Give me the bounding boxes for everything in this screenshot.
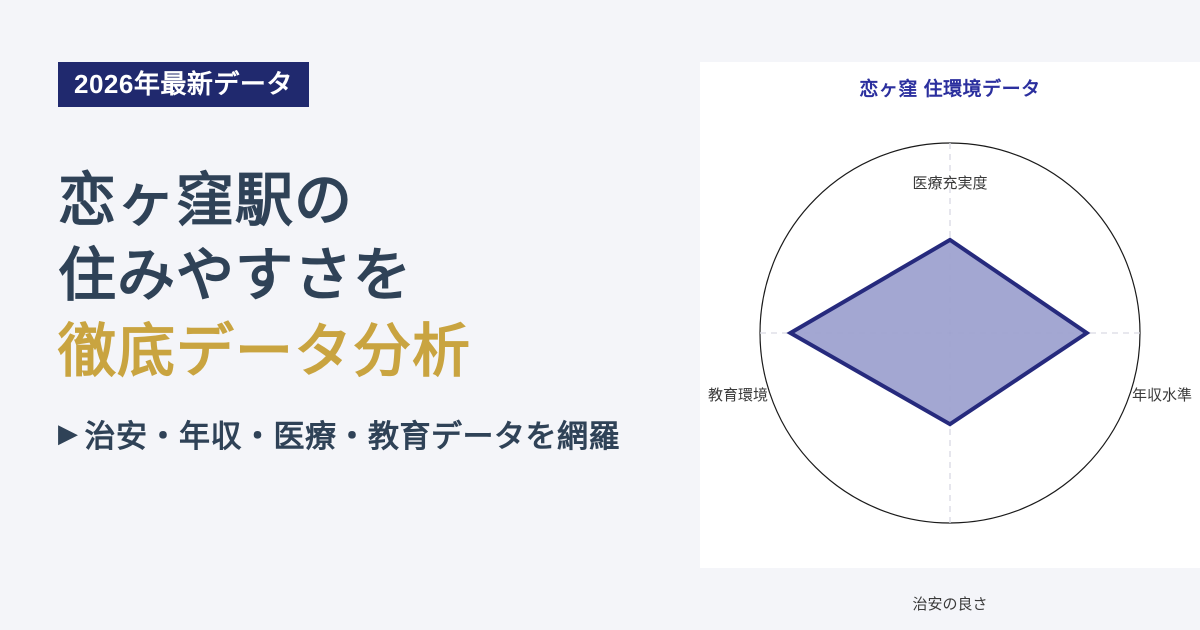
axis-label-education: 教育環境 [708,384,768,405]
headline-line-3-accent: 徹底データ分析 [58,314,700,389]
subtitle: ▶ 治安・年収・医療・教育データを網羅 [58,411,700,456]
radar-chart-svg [700,62,1200,568]
axis-label-medical: 医療充実度 [700,172,1200,193]
axis-label-income: 年収水準 [1132,384,1192,405]
subtitle-text: 治安・年収・医療・教育データを網羅 [85,411,621,456]
page-title: 恋ヶ窪駅の 住みやすさを 徹底データ分析 [58,163,700,389]
radar-chart-card: 恋ヶ窪 住環境データ 医療充実度 年収水準 治安の良さ 教育環境 [700,62,1200,568]
date-badge: 2026年最新データ [58,62,309,107]
radar-series-polygon [790,240,1086,424]
headline-line-2: 住みやすさを [58,238,700,313]
axis-label-safety: 治安の良さ [700,593,1200,614]
triangle-right-icon: ▶ [58,420,79,446]
headline-line-1: 恋ヶ窪駅の [58,163,700,238]
hero-text-pane: 2026年最新データ 恋ヶ窪駅の 住みやすさを 徹底データ分析 ▶ 治安・年収・… [0,0,700,630]
